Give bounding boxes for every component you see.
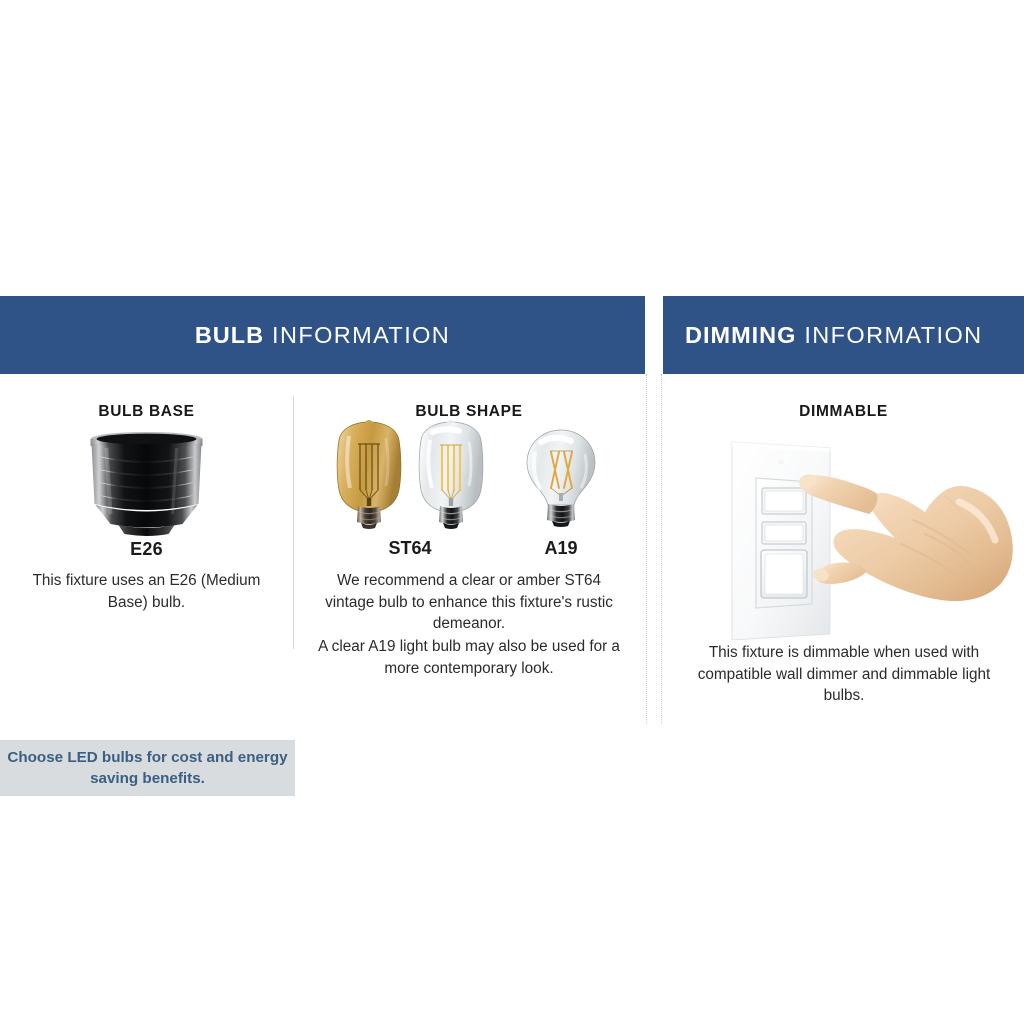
panel-header-title-light: INFORMATION (264, 322, 450, 348)
e26-screw-base-image (0, 430, 293, 538)
column-heading-bulb-base: BULB BASE (0, 374, 293, 421)
led-bulb-tip-text: Choose LED bulbs for cost and energy sav… (0, 747, 295, 789)
bulb-shape-images (293, 418, 645, 538)
panel-separator-left (646, 374, 647, 724)
amber-st64-bulb-image (337, 420, 401, 529)
bulb-shape-label-st64: ST64 (365, 538, 455, 559)
panel-header-title: BULB INFORMATION (195, 322, 450, 349)
clear-a19-bulb-image (527, 430, 595, 527)
bulb-info-columns: BULB BASE (0, 374, 645, 728)
bulb-shape-description-primary: We recommend a clear or amber ST64 vinta… (323, 570, 615, 635)
panels-container: BULB INFORMATION BULB BASE (0, 296, 1024, 728)
bulb-shape-label-a19: A19 (516, 538, 606, 559)
panel-separator-right (661, 374, 662, 724)
column-bulb-base: BULB BASE (0, 374, 293, 728)
column-heading-dimmable: DIMMABLE (663, 374, 1024, 421)
panel-header-bulb-information: BULB INFORMATION (0, 296, 645, 374)
infographic-canvas: BULB INFORMATION BULB BASE (0, 0, 1024, 1024)
panel-header-dimming-information: DIMMING INFORMATION (663, 296, 1024, 374)
led-bulb-tip-banner: Choose LED bulbs for cost and energy sav… (0, 740, 295, 796)
bulb-shape-description-secondary: A clear A19 light bulb may also be used … (317, 636, 621, 679)
panel-body-bulb-information: BULB BASE (0, 374, 645, 728)
wall-dimmer-switch-with-hand-image (663, 428, 1024, 638)
panel-header-title: DIMMING INFORMATION (685, 322, 983, 349)
panel-bulb-information: BULB INFORMATION BULB BASE (0, 296, 645, 728)
panel-header-title-bold: DIMMING (685, 322, 796, 348)
panel-dimming-information: DIMMING INFORMATION DIMMABLE (663, 296, 1024, 728)
column-bulb-shape: BULB SHAPE (293, 374, 645, 728)
bulb-shape-image-labels: ST64 A19 (293, 538, 645, 562)
dimmable-description: This fixture is dimmable when used with … (683, 642, 1005, 707)
bulb-base-description: This fixture uses an E26 (Medium Base) b… (24, 570, 269, 613)
panel-header-title-bold: BULB (195, 322, 264, 348)
panel-body-dimming-information: DIMMABLE (663, 374, 1024, 728)
panel-header-title-light: INFORMATION (796, 322, 982, 348)
clear-st64-bulb-image (419, 420, 483, 529)
bulb-base-image-label: E26 (0, 539, 293, 560)
column-heading-bulb-shape: BULB SHAPE (293, 374, 645, 421)
